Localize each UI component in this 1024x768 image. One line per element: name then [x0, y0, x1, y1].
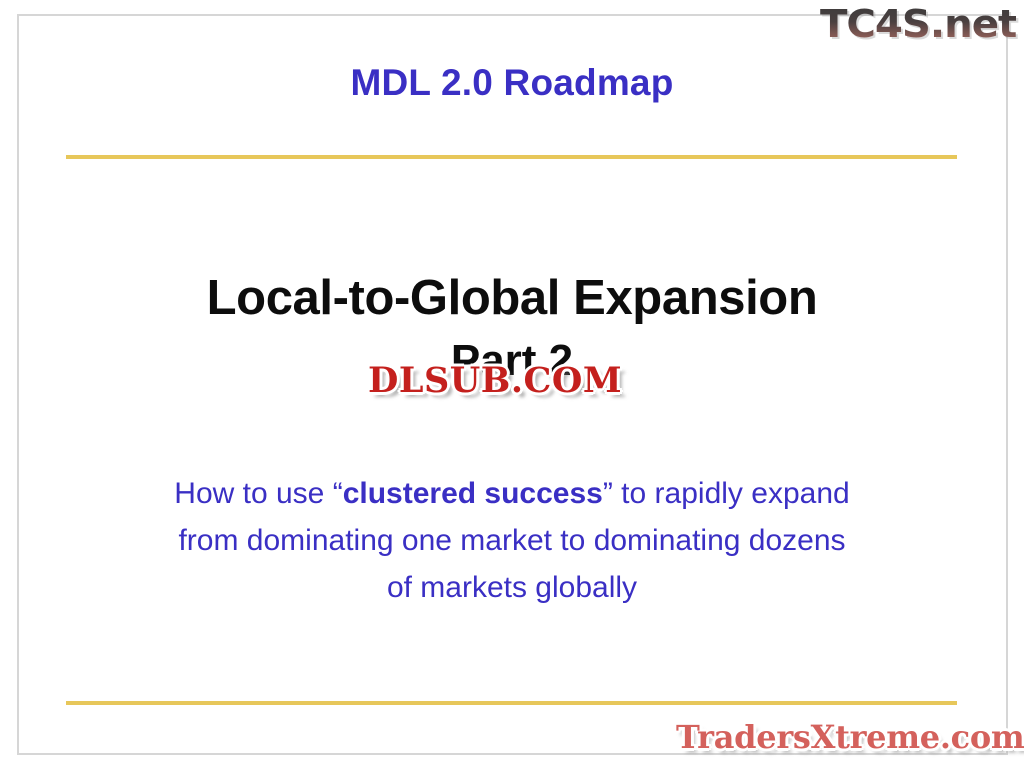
page-title: MDL 2.0 Roadmap	[0, 62, 1024, 104]
divider-top	[66, 155, 957, 159]
body-line1-pre: How to use “	[174, 477, 342, 510]
body-line1-emphasis: clustered success	[343, 477, 603, 510]
watermark-dlsub: DLSUB.COM	[368, 360, 622, 401]
body-paragraph: How to use “clustered success” to rapidl…	[162, 470, 862, 611]
watermark-tradersxtreme: TradersXtreme.com	[676, 718, 1024, 756]
divider-bottom	[66, 701, 957, 705]
main-heading: Local-to-Global Expansion	[0, 270, 1024, 326]
slide-root: MDL 2.0 Roadmap Local-to-Global Expansio…	[0, 0, 1024, 768]
body-line1-post: ” to rapidly	[603, 477, 743, 510]
watermark-tc4s: TC4S.net	[820, 2, 1016, 46]
